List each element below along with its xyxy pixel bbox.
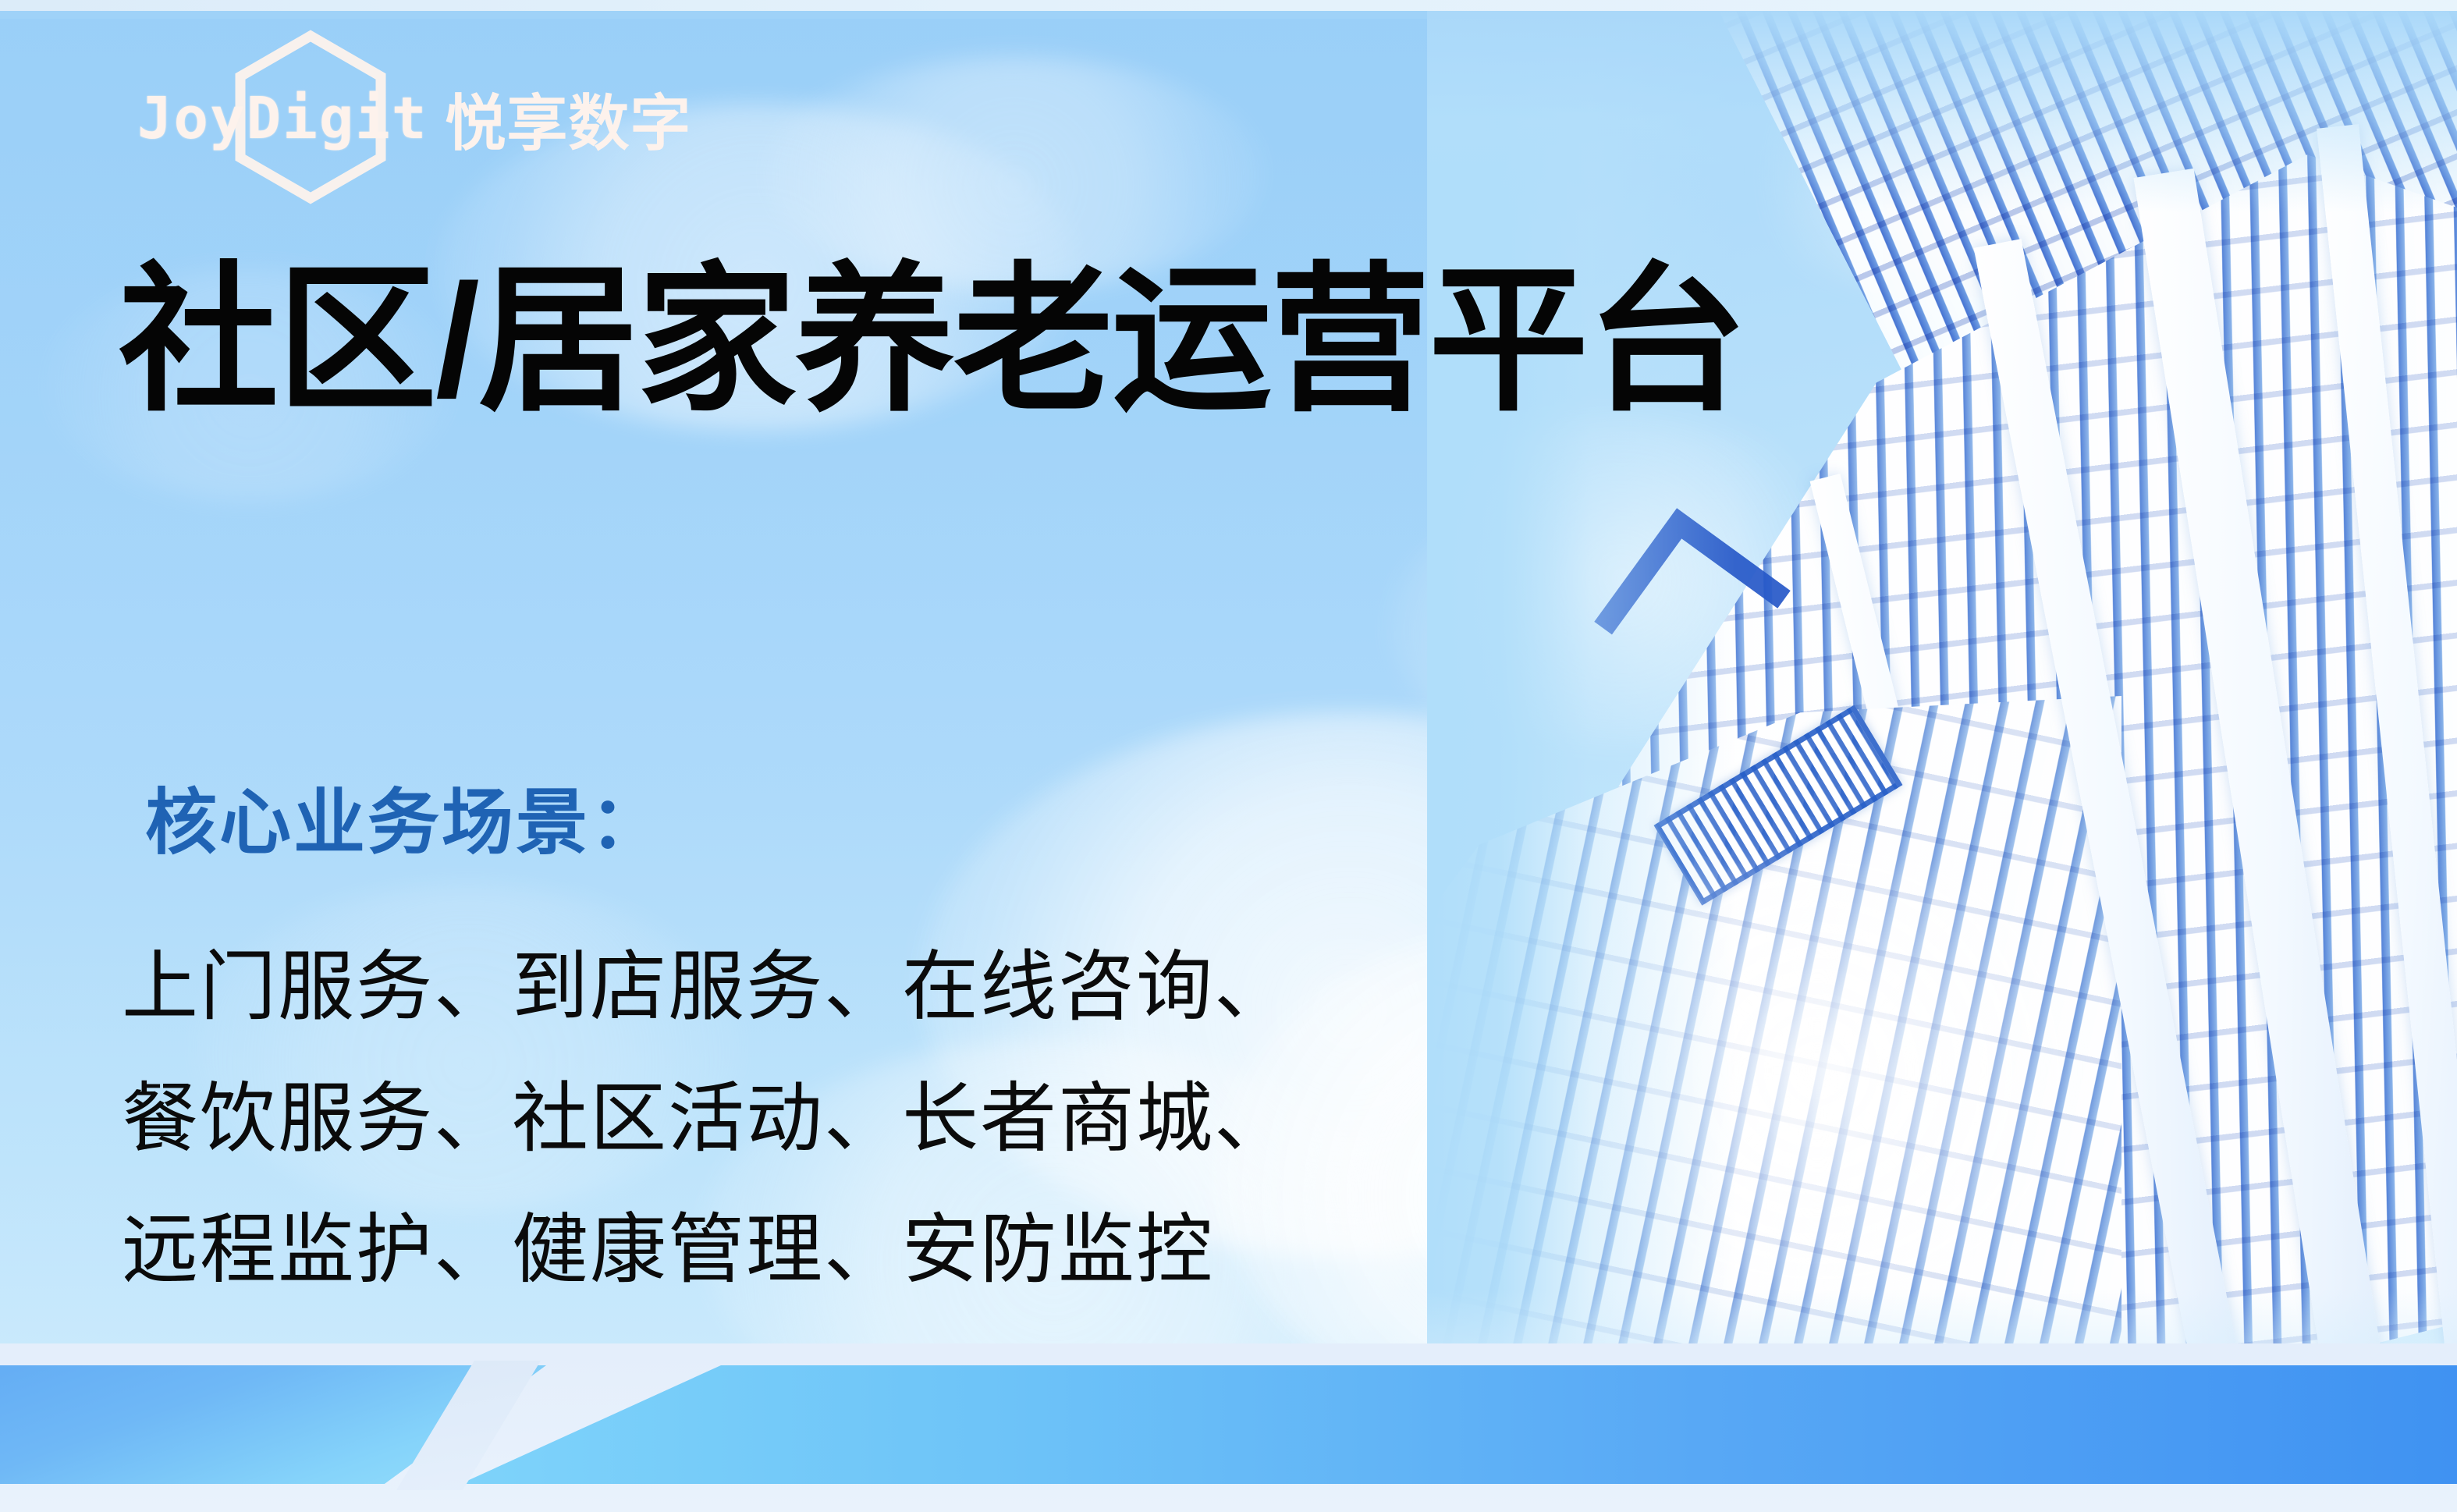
section-heading: 核心业务场景：: [145, 765, 664, 868]
slide-canvas: JoyDigit 悦享数字 社区/居家养老运营平台 核心业务场景： 上门服务、到…: [0, 0, 2457, 1512]
brand-wordmark-cn: 悦享数字: [445, 75, 691, 162]
top-edge-strip: [0, 0, 2457, 11]
photo-left-blend-veil: [1427, 9, 2457, 1406]
page-title: 社区/居家养老运营平台: [119, 254, 1745, 427]
brand-wordmark: JoyDigit: [137, 85, 428, 152]
brand-logo: JoyDigit 悦享数字: [137, 72, 691, 165]
footer-band-main: [460, 1365, 2457, 1484]
scenario-line-3: 远程监护、健康管理、安防监控: [122, 1184, 1292, 1315]
photo-top-blend-veil: [1427, 9, 2457, 212]
footer-decorative-bands: [0, 1343, 2457, 1512]
scenario-line-2: 餐饮服务、社区活动、长者商城、: [122, 1052, 1292, 1184]
scenario-line-1: 上门服务、到店服务、在线咨询、: [122, 921, 1292, 1052]
scenario-list: 上门服务、到店服务、在线咨询、 餐饮服务、社区活动、长者商城、 远程监护、健康管…: [122, 921, 1292, 1315]
skyscraper-photo: [1427, 9, 2457, 1406]
